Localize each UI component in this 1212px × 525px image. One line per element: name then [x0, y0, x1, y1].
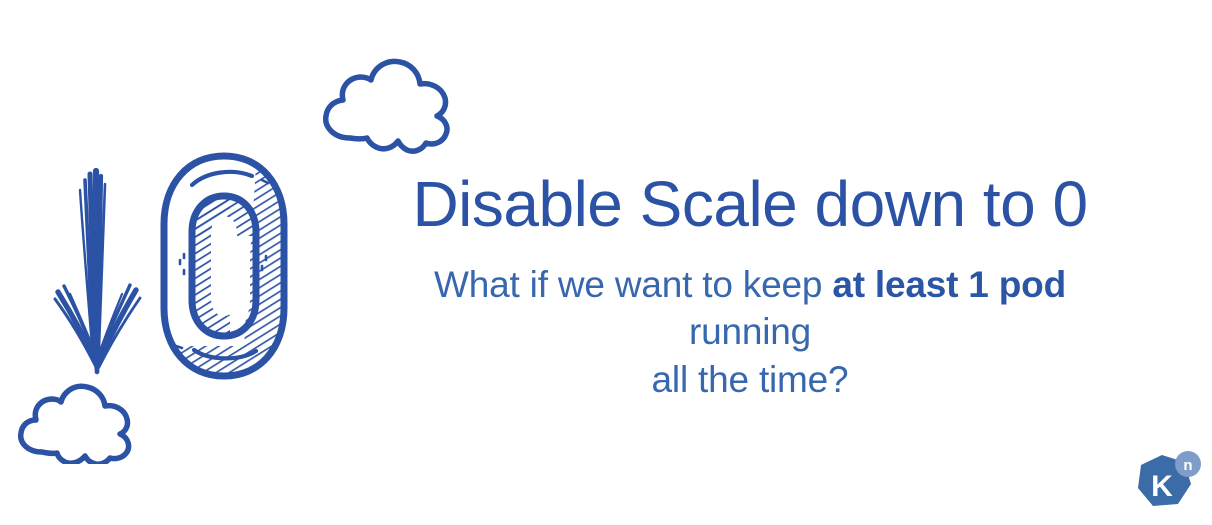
subtitle-tail: running — [689, 311, 811, 352]
logo-letter: K — [1151, 470, 1173, 503]
subtitle: What if we want to keep at least 1 pod r… — [370, 261, 1130, 403]
knative-logo: K n — [1131, 449, 1203, 519]
page-title: Disable Scale down to 0 — [370, 170, 1130, 239]
cloud-icon-top — [312, 55, 462, 155]
logo-superscript: n — [1183, 457, 1192, 474]
text-block: Disable Scale down to 0 What if we want … — [370, 170, 1130, 403]
subtitle-line2: all the time? — [652, 359, 849, 400]
subtitle-lead: What if we want to keep — [434, 264, 832, 305]
zero-digit-sketch — [148, 150, 300, 382]
arrow-down-icon — [52, 168, 152, 378]
cloud-icon-bottom — [2, 382, 142, 464]
slide-canvas: Disable Scale down to 0 What if we want … — [0, 0, 1212, 525]
subtitle-emphasis: at least 1 pod — [832, 264, 1066, 305]
